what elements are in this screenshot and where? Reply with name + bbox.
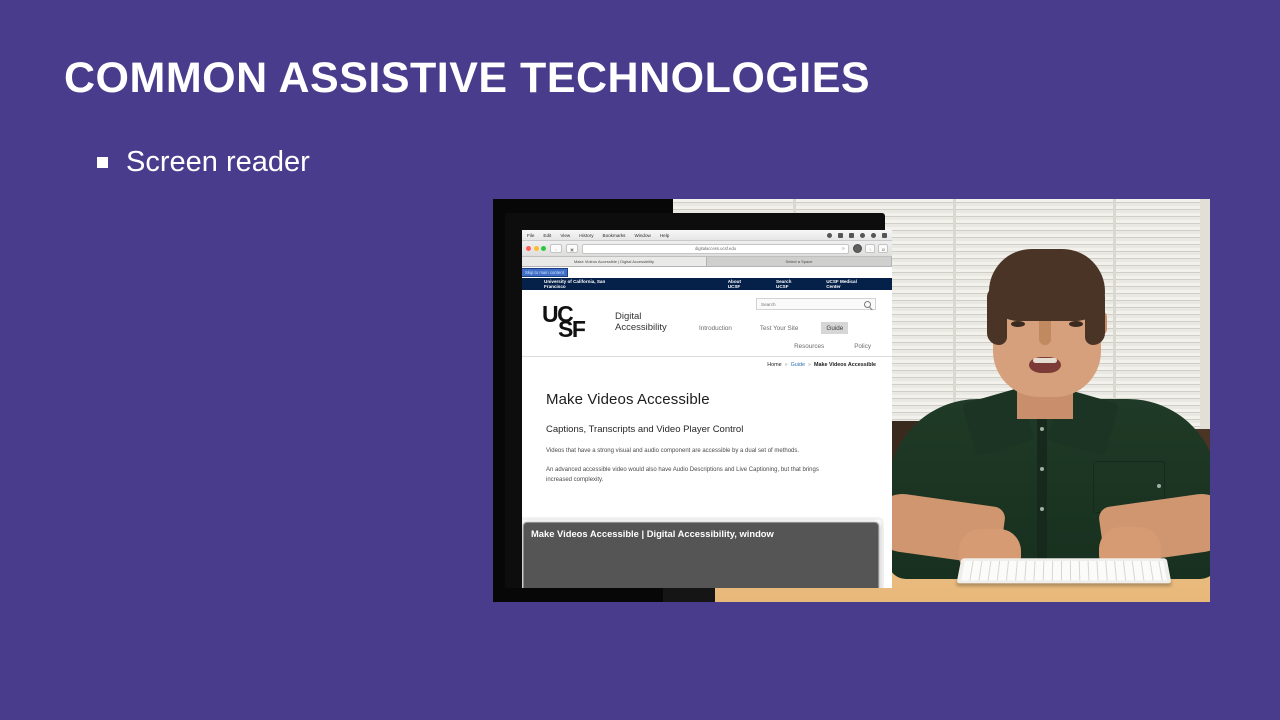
nav-item-policy[interactable]: Policy	[849, 340, 876, 352]
page-content: Make Videos Accessible Captions, Transcr…	[522, 373, 892, 588]
breadcrumb-guide[interactable]: Guide	[791, 362, 805, 368]
close-icon[interactable]	[526, 246, 531, 251]
user-icon[interactable]	[871, 233, 876, 238]
skip-link-row[interactable]: Skip to main content	[522, 267, 892, 278]
clock-icon[interactable]	[882, 233, 887, 238]
bullet-label: Screen reader	[126, 146, 310, 179]
shirt-button	[1040, 427, 1044, 431]
site-name: Digital Accessibility	[615, 312, 667, 334]
page-title: COMMON ASSISTIVE TECHNOLOGIES	[64, 54, 870, 103]
content-paragraph-1: Videos that have a strong visual and aud…	[546, 447, 846, 457]
voiceover-caption-panel: Make Videos Accessible | Digital Accessi…	[523, 522, 879, 588]
menu-item-window[interactable]: Window	[634, 233, 650, 238]
link-about-ucsf[interactable]: About UCSF	[728, 279, 752, 289]
window-controls[interactable]	[526, 246, 546, 251]
person-eyebrow	[1065, 311, 1087, 315]
zoom-icon[interactable]	[541, 246, 546, 251]
search-input[interactable]	[757, 299, 875, 309]
ucsf-brand-label: University of California, San Francisco	[544, 279, 620, 289]
back-button[interactable]: ‹	[550, 244, 562, 253]
keyboard-keys	[961, 561, 1167, 580]
nav-item-test-your-site[interactable]: Test Your Site	[755, 322, 804, 334]
bluetooth-icon[interactable]	[838, 233, 843, 238]
secondary-nav[interactable]: Resources Policy	[789, 340, 876, 352]
breadcrumb-separator: »	[785, 362, 788, 368]
battery-icon[interactable]	[849, 233, 854, 238]
menu-item-file[interactable]: File	[527, 233, 534, 238]
wall	[1200, 199, 1210, 461]
keyboard	[957, 558, 1172, 583]
minimize-icon[interactable]	[534, 246, 539, 251]
url-text: digitalaccess.ucsf.edu	[695, 246, 736, 251]
breadcrumb-home[interactable]: Home	[767, 362, 781, 368]
menu-status-icons[interactable]	[827, 233, 887, 238]
person-eye	[1011, 321, 1025, 327]
breadcrumb-current: Make Videos Accessible	[814, 362, 876, 368]
computer-monitor: File Edit View History Bookmarks Window …	[505, 213, 885, 588]
list-item: Screen reader	[97, 146, 310, 179]
tabs-overview-icon[interactable]: ⧉	[878, 244, 888, 253]
menu-item-view[interactable]: View	[560, 233, 570, 238]
shirt-placket	[1037, 411, 1047, 581]
nav-item-introduction[interactable]: Introduction	[694, 322, 737, 334]
monitor-screen: File Edit View History Bookmarks Window …	[522, 230, 892, 588]
embedded-video[interactable]: File Edit View History Bookmarks Window …	[493, 199, 1210, 602]
nav-item-resources[interactable]: Resources	[789, 340, 829, 352]
shirt-button	[1040, 507, 1044, 511]
site-search[interactable]	[756, 298, 876, 310]
share-icon[interactable]: ↑	[865, 244, 875, 253]
reload-icon[interactable]: ⟳	[842, 246, 845, 251]
site-header: UC SF Digital Accessibility Introduction…	[522, 290, 892, 356]
menu-item-help[interactable]: Help	[660, 233, 669, 238]
pocket-button	[1157, 484, 1161, 488]
shirt-button	[1040, 467, 1044, 471]
menu-item-history[interactable]: History	[579, 233, 593, 238]
person-hair-side	[987, 287, 1007, 345]
sidebar-button[interactable]: ▣	[566, 244, 578, 253]
person-nose	[1039, 321, 1051, 345]
person-eye	[1069, 321, 1083, 327]
address-bar[interactable]: digitalaccess.ucsf.edu ⟳	[582, 244, 849, 254]
content-paragraph-2: An advanced accessible video would also …	[546, 466, 846, 485]
magnifier-icon[interactable]	[864, 301, 871, 308]
site-name-line-1: Digital	[615, 311, 641, 322]
content-subheading: Captions, Transcripts and Video Player C…	[546, 424, 846, 437]
reader-icon[interactable]	[853, 244, 862, 253]
square-bullet-icon	[97, 157, 108, 168]
tab-make-videos-accessible[interactable]: Make Videos Accessible | Digital Accessi…	[522, 257, 707, 266]
toolbar-right-group[interactable]: ↑ ⧉	[853, 244, 888, 253]
search-icon[interactable]	[860, 233, 865, 238]
content-heading: Make Videos Accessible	[546, 391, 892, 408]
nav-item-guide[interactable]: Guide	[821, 322, 848, 334]
primary-nav[interactable]: Introduction Test Your Site Guide	[694, 322, 848, 334]
menu-item-edit[interactable]: Edit	[543, 233, 551, 238]
ucsf-global-bar[interactable]: University of California, San Francisco …	[522, 278, 892, 290]
person-eyebrow	[1007, 311, 1029, 315]
link-search-ucsf[interactable]: Search UCSF	[776, 279, 802, 289]
person-hair-side	[1085, 287, 1105, 345]
site-name-line-2: Accessibility	[615, 322, 667, 333]
skip-to-main-content-link[interactable]: Skip to main content	[522, 269, 567, 277]
logo-line-2: SF	[558, 318, 584, 341]
wifi-icon[interactable]	[827, 233, 832, 238]
breadcrumb[interactable]: Home » Guide » Make Videos Accessible	[522, 356, 892, 373]
ucsf-logo[interactable]: UC SF	[542, 303, 584, 341]
browser-toolbar[interactable]: ‹ ▣ digitalaccess.ucsf.edu ⟳ ↑ ⧉	[522, 241, 892, 257]
breadcrumb-separator: »	[808, 362, 811, 368]
person-teeth	[1033, 358, 1057, 363]
mac-menu-bar[interactable]: File Edit View History Bookmarks Window …	[522, 230, 892, 241]
tab-bar[interactable]: Make Videos Accessible | Digital Accessi…	[522, 257, 892, 267]
link-ucsf-medical-center[interactable]: UCSF Medical Center	[826, 279, 868, 289]
tab-select-a-space[interactable]: Select a Space	[707, 257, 892, 266]
menu-item-bookmarks[interactable]: Bookmarks	[603, 233, 626, 238]
